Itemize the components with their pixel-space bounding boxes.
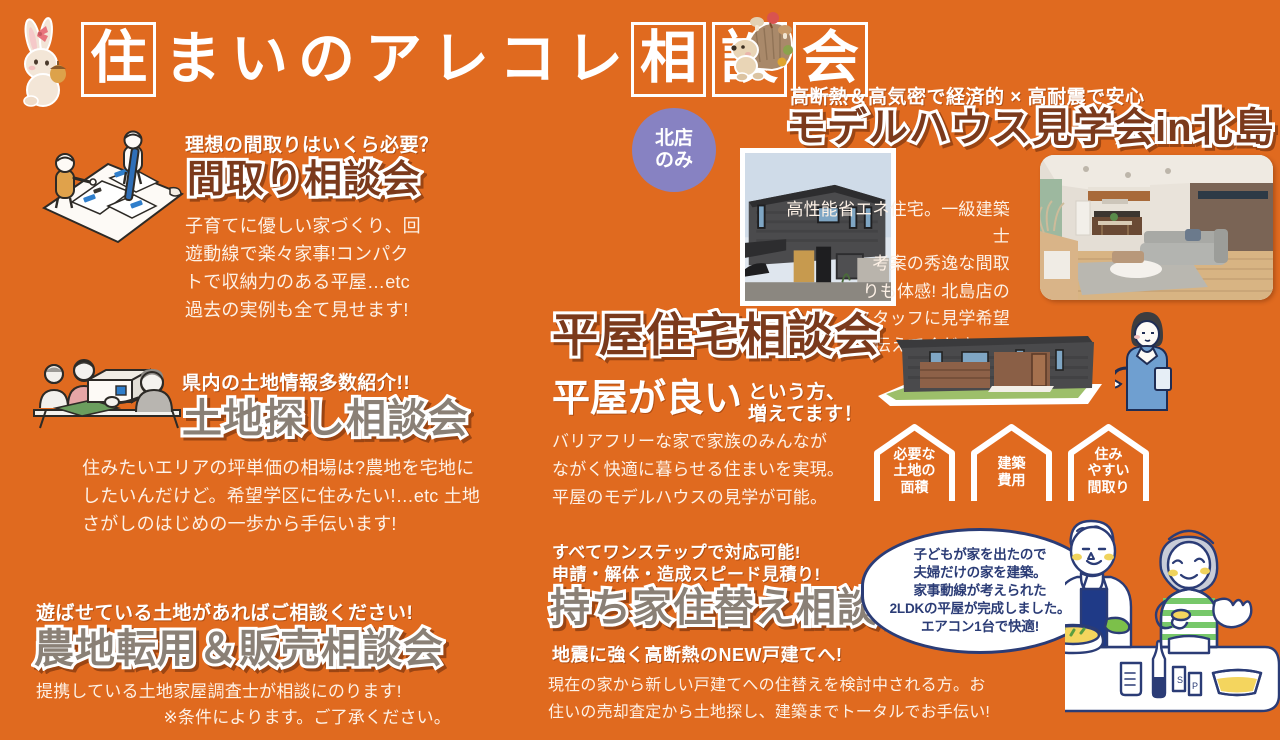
feature-badge-floorplan: 住み やすい 間取り	[1066, 423, 1151, 503]
svg-text:P: P	[1192, 681, 1198, 691]
section-modelhouse-headline: モデルハウス見学会in北島	[786, 108, 1275, 148]
section-nouchi-body-line2: ※条件によります。ご了承ください。	[36, 705, 451, 731]
badge-line: 建築	[998, 455, 1026, 472]
section-nouchi-body-line1: 提携している土地家屋調査士が相談にのります!	[36, 679, 496, 705]
hirayaya-subhead-small: という方、 増えてます！	[748, 382, 863, 426]
section-hirayaya-body: バリアフリーな家で家族のみんなが ながく快適に暮らせる住まいを実現。 平屋のモデ…	[552, 428, 892, 512]
title-char: ア	[360, 31, 427, 88]
section-tochisagashi-headline: 土地探し相談会	[182, 399, 502, 439]
badge-line: 必要な	[894, 446, 936, 463]
single-story-house-illustration	[876, 312, 1106, 412]
feature-badge-group: 必要な 土地の 面積 建築 費用 住み やすい 間取り	[872, 423, 1151, 503]
feature-badge-label: 住み やすい 間取り	[1088, 446, 1130, 496]
cooking-couple-illustration: S P	[1065, 515, 1280, 740]
feature-badge-build-cost: 建築 費用	[969, 423, 1054, 503]
sumikae-body-line: 住いの売却査定から土地探し、建築までトータルでお手伝い!	[548, 699, 1028, 726]
section-nouchi: 遊ばせている土地があればご相談ください! 農地転用＆販売相談会 提携している土地…	[36, 598, 496, 732]
sumikae-body-line: 現在の家から新しい戸建てへの住替えを検討中される方。お	[548, 672, 1028, 699]
badge-line1: 北店	[655, 128, 693, 150]
section-sumikae-body: 現在の家から新しい戸建てへの住替えを検討中される方。お 住いの売却査定から土地探…	[548, 672, 1028, 726]
badge-line2: のみ	[655, 150, 693, 172]
title-char: 相	[631, 22, 706, 97]
section-modelhouse-kicker: 高断熱＆高気密で経済的 × 高耐震で安心	[790, 87, 1145, 108]
title-char: ま	[159, 31, 226, 88]
badge-line: 土地の	[894, 462, 936, 479]
badge-line: 住み	[1088, 446, 1130, 463]
bubble-line: エアコン1台で快適!	[890, 618, 1071, 636]
feature-badge-label: 建築 費用	[998, 455, 1026, 489]
rabbit-mascot-icon	[16, 16, 78, 108]
section-sumikae-kicker-line1: すべてワンステップで対応可能!	[552, 542, 821, 564]
title-char: 住	[81, 22, 156, 97]
badge-line: やすい	[1088, 462, 1130, 479]
section-madori-headline: 間取り相談会	[187, 161, 485, 199]
bubble-line: 夫婦だけの家を建築。	[890, 564, 1071, 582]
section-sumikae-kicker-line2: 申請・解体・造成スピード見積り!	[552, 564, 821, 586]
hirayaya-body-line: ながく快適に暮らせる住まいを実現。	[552, 456, 892, 484]
hirayaya-body-line: バリアフリーな家で家族のみんなが	[552, 428, 892, 456]
section-hirayaya-headline: 平屋住宅相談会	[552, 312, 881, 358]
bubble-line: 子どもが家を出たので	[890, 546, 1071, 564]
section-madori-body: 子育てに優しい家づくり、回遊動線で楽々家事!コンパクトで収納力のある平屋…etc…	[185, 213, 425, 325]
floorplan-people-illustration	[38, 130, 188, 255]
section-sumikae-subkicker: 地震に強く高断熱のNEW戸建てへ!	[552, 641, 843, 667]
flyer-canvas: 住 ま い の ア レ コ レ 相 談 会	[0, 0, 1280, 740]
badge-line: 面積	[894, 479, 936, 496]
section-nouchi-headline: 農地転用＆販売相談会	[34, 629, 496, 669]
counter-consultation-illustration	[32, 358, 182, 438]
title-char: レ	[427, 31, 494, 88]
section-sumikae-kickers: すべてワンステップで対応可能! 申請・解体・造成スピード見積り!	[552, 542, 821, 586]
section-hirayaya-subhead: 平屋が良い という方、 増えてます！	[552, 380, 863, 426]
section-madori: 理想の間取りはいくら必要？ 間取り相談会 子育てに優しい家づくり、回遊動線で楽々…	[185, 130, 485, 325]
hirayaya-subhead-big: 平屋が良い	[552, 380, 742, 418]
section-tochisagashi: 県内の土地情報多数紹介!! 土地探し相談会	[182, 368, 502, 439]
bubble-line: 2LDKの平屋が完成しました。	[890, 600, 1071, 618]
svg-text:S: S	[1177, 675, 1183, 685]
hedgehog-mascot-icon	[726, 6, 800, 84]
modelhouse-body-line: 高性能省エネ住宅。一級建築士	[780, 196, 1010, 250]
section-tochisagashi-kicker: 県内の土地情報多数紹介!!	[182, 368, 502, 395]
section-modelhouse-kicker-wrap: 高断熱＆高気密で経済的 × 高耐震で安心	[790, 82, 1145, 109]
feature-badge-label: 必要な 土地の 面積	[894, 446, 936, 496]
title-char: レ	[561, 31, 628, 88]
title-char: コ	[494, 31, 561, 88]
living-room-interior-photo	[1040, 155, 1273, 300]
title-char: の	[293, 31, 360, 88]
hirayaya-subhead-small-line2: 増えてます！	[748, 404, 863, 426]
modelhouse-body-line: 考案の秀逸な間取	[780, 250, 1010, 277]
title-char: い	[226, 31, 293, 88]
status-badge-kita-only: 北店 のみ	[632, 108, 716, 192]
modelhouse-body-line: りも体感! 北島店の	[780, 278, 1010, 305]
bubble-line: 家事動線が考えられた	[890, 582, 1071, 600]
badge-line: 間取り	[1088, 479, 1130, 496]
feature-badge-land-area: 必要な 土地の 面積	[872, 423, 957, 503]
section-tochisagashi-body: 住みたいエリアの坪単価の相場は?農地を宅地にしたいんだけど。希望学区に住みたい!…	[82, 455, 482, 539]
hirayaya-subhead-small-line1: という方、	[748, 382, 863, 404]
pointing-person-illustration	[1115, 306, 1177, 418]
testimonial-speech-bubble: 子どもが家を出たので 夫婦だけの家を建築。 家事動線が考えられた 2LDKの平屋…	[861, 528, 1099, 654]
section-madori-kicker: 理想の間取りはいくら必要？	[185, 130, 485, 157]
badge-line: 費用	[998, 472, 1026, 489]
section-nouchi-kicker: 遊ばせている土地があればご相談ください!	[36, 598, 496, 625]
hirayaya-body-line: 平屋のモデルハウスの見学が可能。	[552, 484, 892, 512]
speech-bubble-text: 子どもが家を出たので 夫婦だけの家を建築。 家事動線が考えられた 2LDKの平屋…	[890, 546, 1071, 636]
